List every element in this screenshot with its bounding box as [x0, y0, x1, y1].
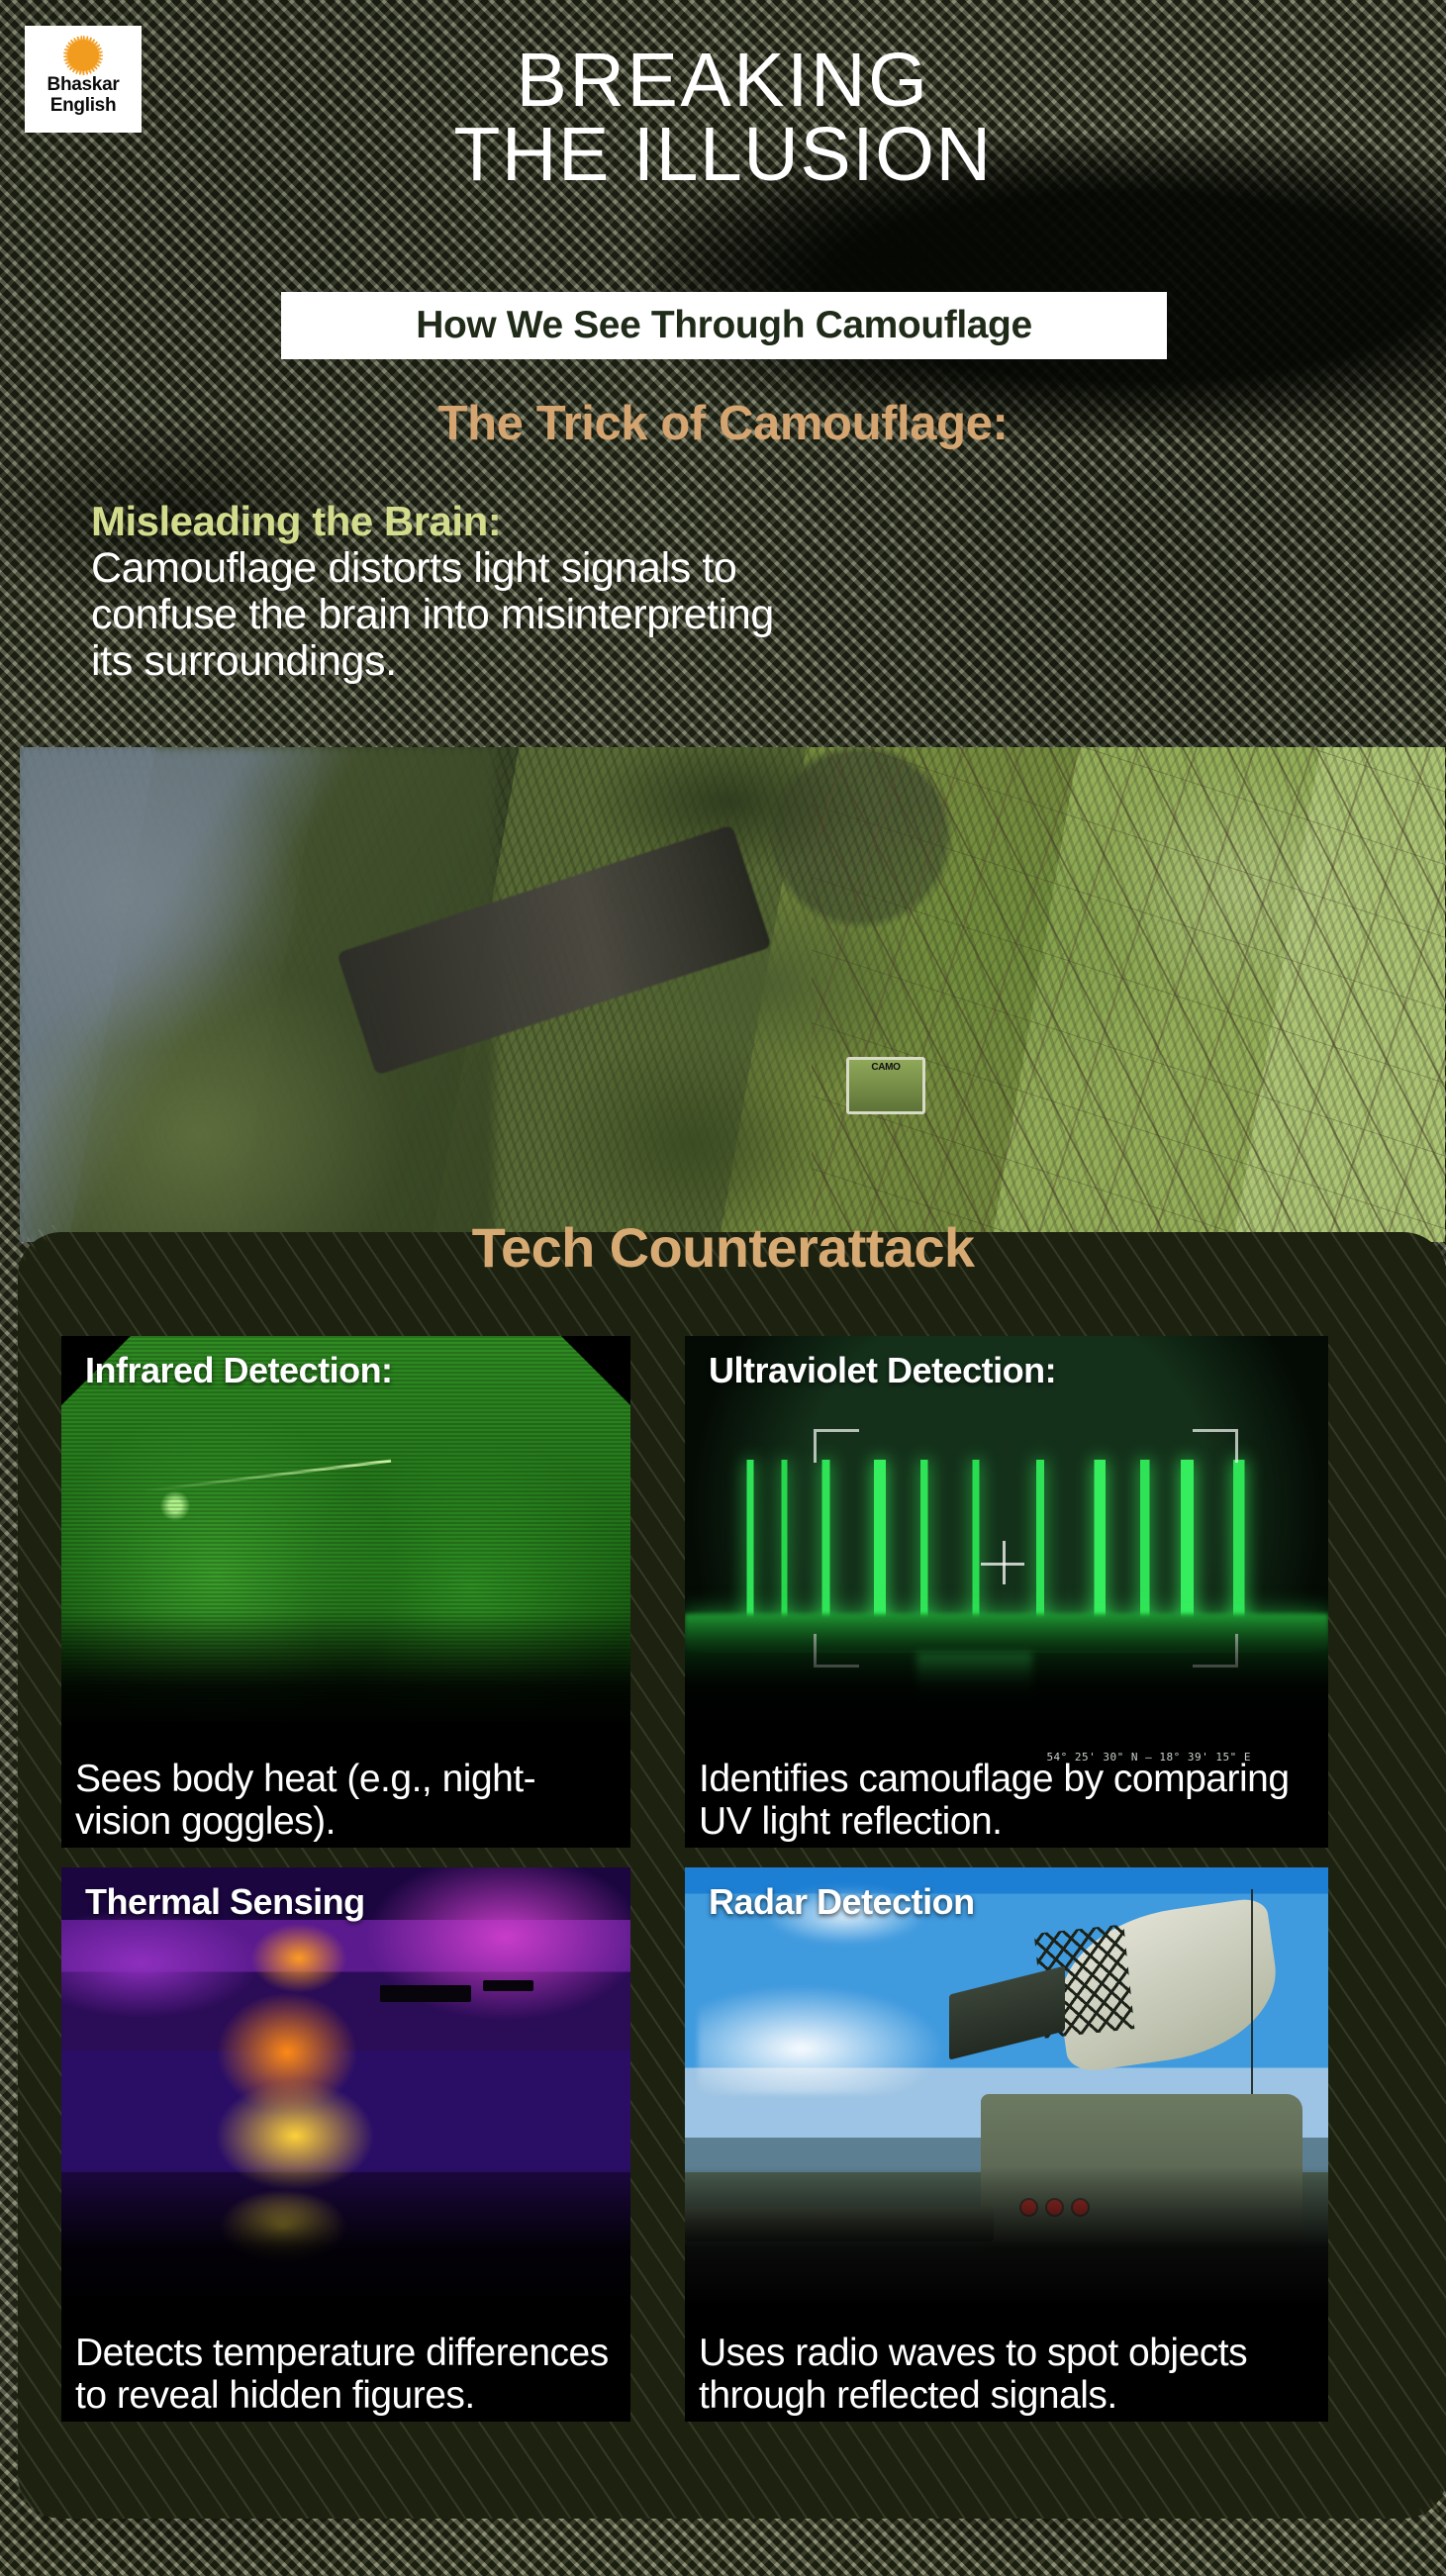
- thermal-rifle-tip: [483, 1980, 534, 1991]
- title-line-1: BREAKING: [517, 38, 930, 123]
- section-heading-trick: The Trick of Camouflage:: [0, 396, 1446, 451]
- card-description: Sees body heat (e.g., night-vision goggl…: [75, 1759, 623, 1844]
- card-thermal-sensing[interactable]: Thermal Sensing Detects temperature diff…: [61, 1867, 630, 2422]
- scope-corner-top-right: [561, 1336, 630, 1405]
- card-title: Thermal Sensing: [85, 1883, 365, 1920]
- subtitle-text: How We See Through Camouflage: [416, 304, 1032, 347]
- thermal-rifle: [380, 1985, 471, 2003]
- scope-bracket-tr: [1193, 1429, 1238, 1463]
- card-title: Infrared Detection:: [85, 1352, 393, 1388]
- card-infrared-detection[interactable]: Infrared Detection: Sees body heat (e.g.…: [61, 1336, 630, 1848]
- card-title: Ultraviolet Detection:: [709, 1352, 1056, 1388]
- laser-beam: [142, 1460, 390, 1493]
- trick-body: Camouflage distorts light signals to con…: [91, 545, 774, 685]
- radar-counterweight-panel: [949, 1966, 1065, 2060]
- card-title: Radar Detection: [709, 1883, 975, 1920]
- card-ultraviolet-detection[interactable]: 54° 25' 30" N – 18° 39' 15" E Ultraviole…: [685, 1336, 1328, 1848]
- hero-shoulder-patch: CAMO: [846, 1057, 925, 1114]
- crosshair-icon: [981, 1541, 1024, 1584]
- card-description: Identifies camouflage by comparing UV li…: [699, 1759, 1320, 1844]
- brand-logo[interactable]: Bhaskar English: [25, 26, 142, 133]
- tech-card-grid: Infrared Detection: Sees body heat (e.g.…: [61, 1336, 1388, 2422]
- title-line-2: THE ILLUSION: [0, 118, 1446, 192]
- brand-name-line1: Bhaskar: [48, 75, 120, 96]
- card-description: Uses radio waves to spot objects through…: [699, 2333, 1320, 2418]
- trick-subheading: Misleading the Brain:: [91, 500, 774, 543]
- hero-image: [20, 747, 1445, 1242]
- card-description: Detects temperature differences to revea…: [75, 2333, 623, 2418]
- sun-icon: [69, 42, 97, 69]
- cloud-shape-1: [698, 1980, 955, 2093]
- page-title: BREAKING THE ILLUSION: [0, 44, 1446, 193]
- hero-branches: [812, 747, 1445, 1242]
- scope-bracket-tl: [814, 1429, 859, 1463]
- brand-name-line2: English: [48, 96, 120, 117]
- coordinate-readout: 54° 25' 30" N – 18° 39' 15" E: [1046, 1751, 1251, 1764]
- section-heading-tech: Tech Counterattack: [0, 1215, 1446, 1280]
- trick-text-block: Misleading the Brain: Camouflage distort…: [91, 500, 774, 685]
- subtitle-banner: How We See Through Camouflage: [281, 292, 1167, 359]
- card-radar-detection[interactable]: Radar Detection Uses radio waves to spot…: [685, 1867, 1328, 2422]
